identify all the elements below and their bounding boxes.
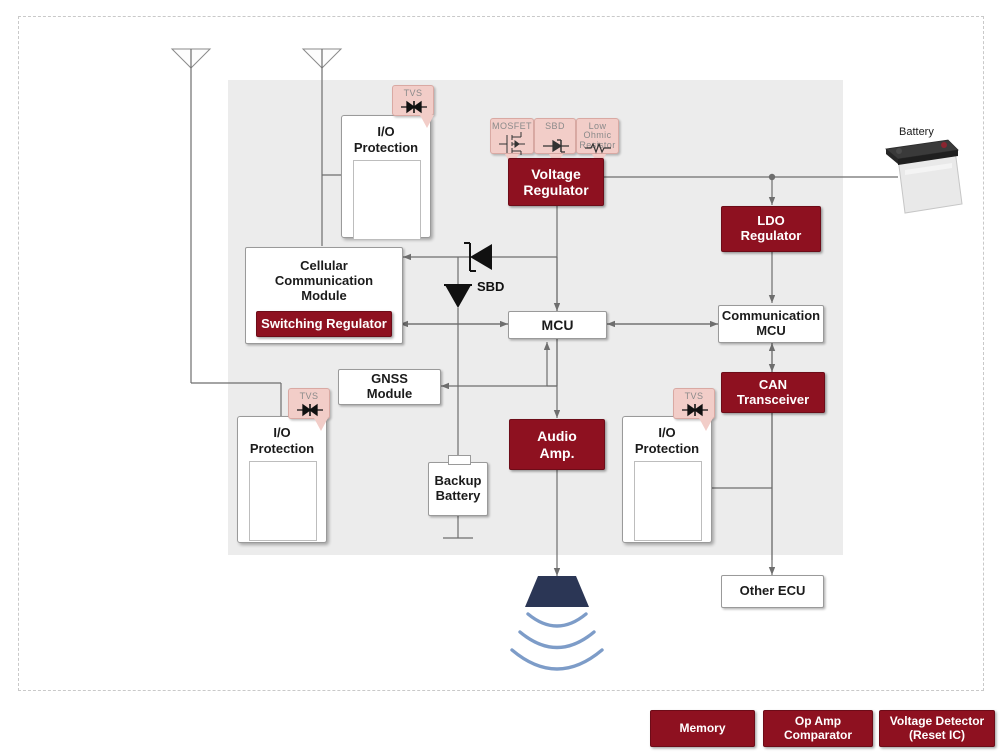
ldo-regulator-block[interactable]: LDO Regulator xyxy=(721,206,821,252)
io-protection-right-symbol-frame xyxy=(634,461,702,541)
backup-battery-block[interactable]: Backup Battery xyxy=(428,462,488,516)
legend-op-amp-label: Op Amp Comparator xyxy=(784,715,852,743)
backup-battery-label: Backup Battery xyxy=(435,474,482,504)
battery-label: Battery xyxy=(899,126,934,138)
mosfet-icon xyxy=(491,119,535,155)
tvs-callout-left-tail xyxy=(314,418,328,431)
legend-item-voltage-detector[interactable]: Voltage Detector (Reset IC) xyxy=(879,710,995,747)
gnss-module-label: GNSS Module xyxy=(367,372,413,402)
can-transceiver-block[interactable]: CAN Transceiver xyxy=(721,372,825,413)
sbd-diode-icon xyxy=(535,119,577,155)
tvs-callout-right-tail xyxy=(699,418,713,431)
switching-regulator-block[interactable]: Switching Regulator xyxy=(256,311,392,337)
audio-amp-block[interactable]: Audio Amp. xyxy=(509,419,605,470)
io-protection-left-label: I/O Protection xyxy=(238,425,326,456)
mcu-block[interactable]: MCU xyxy=(508,311,607,339)
legend-memory-label: Memory xyxy=(679,722,725,736)
sbd-callout[interactable]: SBD xyxy=(534,118,576,154)
low-ohmic-resistor-callout[interactable]: Low Ohmic Resistor xyxy=(576,118,619,154)
tvs-diode-icon xyxy=(289,389,331,420)
voltage-regulator-label: Voltage Regulator xyxy=(523,166,588,198)
switching-regulator-label: Switching Regulator xyxy=(261,317,387,332)
communication-mcu-block[interactable]: Communication MCU xyxy=(718,305,824,343)
other-ecu-block[interactable]: Other ECU xyxy=(721,575,824,608)
ldo-regulator-label: LDO Regulator xyxy=(741,214,802,244)
mcu-label: MCU xyxy=(542,317,574,333)
tvs-callout-left[interactable]: TVS xyxy=(288,388,330,419)
legend-voltage-detector-label: Voltage Detector (Reset IC) xyxy=(890,715,984,743)
other-ecu-label: Other ECU xyxy=(740,584,806,599)
cellular-communication-module-label: Cellular Communication Module xyxy=(275,259,373,304)
diagram-canvas: I/O Protection TVS MOSFET xyxy=(0,0,1001,753)
sbd-inline-label: SBD xyxy=(477,279,504,294)
audio-amp-label: Audio Amp. xyxy=(537,428,577,460)
tvs-diode-icon xyxy=(674,389,716,420)
backup-battery-terminal xyxy=(448,455,471,465)
tvs-callout-top[interactable]: TVS xyxy=(392,85,434,116)
tvs-callout-right[interactable]: TVS xyxy=(673,388,715,419)
io-protection-left-symbol-frame xyxy=(249,461,317,541)
resistor-icon xyxy=(577,119,620,155)
mosfet-callout[interactable]: MOSFET xyxy=(490,118,534,154)
can-transceiver-label: CAN Transceiver xyxy=(737,378,809,408)
legend-item-memory[interactable]: Memory xyxy=(650,710,755,747)
communication-mcu-label: Communication MCU xyxy=(722,309,820,339)
legend-item-op-amp-comparator[interactable]: Op Amp Comparator xyxy=(763,710,873,747)
io-protection-top-symbol-frame xyxy=(353,160,421,240)
io-protection-top-label: I/O Protection xyxy=(342,124,430,155)
tvs-diode-icon xyxy=(393,86,435,117)
gnss-module-block[interactable]: GNSS Module xyxy=(338,369,441,405)
tvs-callout-top-tail xyxy=(420,115,434,128)
io-protection-right-label: I/O Protection xyxy=(623,425,711,456)
voltage-regulator-block[interactable]: Voltage Regulator xyxy=(508,158,604,206)
